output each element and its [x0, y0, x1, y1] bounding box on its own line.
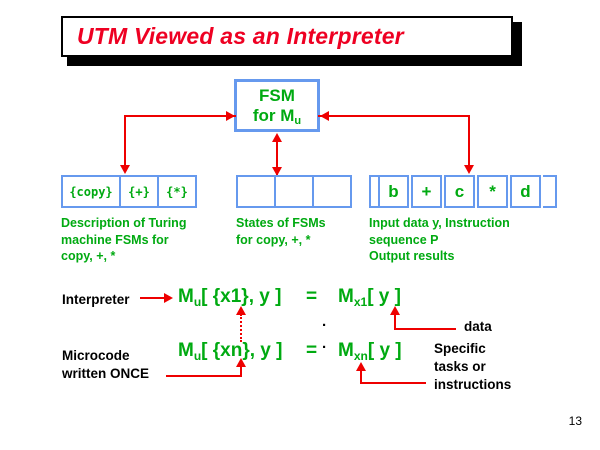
- interpreter-arrow-line: [140, 297, 166, 299]
- microcode-label-line2: written ONCE: [62, 366, 149, 381]
- tape-description: {copy} {+} {*}: [61, 175, 197, 208]
- specific-tasks-line3: instructions: [434, 377, 511, 392]
- equation-row2-rhs-prefix: M: [338, 340, 354, 361]
- data-callout-line: [394, 328, 456, 330]
- page-number: 13: [569, 414, 582, 428]
- connector-right-arrowhead-icon: [464, 165, 474, 174]
- tape-states: [236, 175, 352, 208]
- microcode-callout-arrowhead-icon: [236, 358, 246, 367]
- equation-link-arrowhead-icon: [236, 306, 246, 315]
- tape-data: b + c * d: [378, 175, 543, 208]
- equation-link-dotted-line: [240, 314, 242, 342]
- specific-tasks-line2: tasks or: [434, 359, 486, 374]
- interpreter-label: Interpreter: [62, 291, 130, 309]
- data-callout-vertical: [394, 314, 396, 330]
- equation-row2-lhs-subscript: u: [194, 349, 201, 363]
- connector-left-into-fsm-arrowhead-icon: [226, 111, 235, 121]
- data-label: data: [464, 318, 492, 336]
- tape-cell: {*}: [157, 175, 197, 208]
- connector-right-vertical: [468, 115, 470, 167]
- connector-left-vertical: [124, 115, 126, 167]
- fsm-label-line2-text: for M: [253, 106, 295, 125]
- tape-cell: *: [477, 175, 508, 208]
- equation-row1-lhs-rest: [ {x1}, y ]: [201, 286, 281, 307]
- microcode-label: Microcode written ONCE: [62, 347, 149, 383]
- equation-row2-equals: =: [306, 340, 317, 362]
- specific-tasks-line1: Specific: [434, 341, 486, 356]
- tape-cell: [312, 175, 352, 208]
- data-callout-arrowhead-icon: [390, 306, 400, 315]
- tape-cell: b: [378, 175, 409, 208]
- equation-row2-lhs-prefix: M: [178, 340, 194, 361]
- tape-data-right-bracket: [543, 175, 557, 208]
- interpreter-arrowhead-icon: [164, 293, 173, 303]
- tape-cell: d: [510, 175, 541, 208]
- tape-cell: c: [444, 175, 475, 208]
- connector-middle-arrowhead-up-icon: [272, 133, 282, 142]
- specific-callout-vertical: [360, 370, 362, 384]
- equation-row1-lhs-subscript: u: [194, 295, 201, 309]
- tape-description-caption: Description of Turing machine FSMs for c…: [61, 215, 231, 265]
- tape-cell: +: [411, 175, 442, 208]
- equation-row1-rhs: Mx1[ y ]: [338, 286, 401, 308]
- ellipsis-dot: .: [322, 336, 326, 351]
- specific-tasks-label: Specific tasks or instructions: [434, 340, 511, 395]
- equation-row1-lhs-prefix: M: [178, 286, 194, 307]
- tape-cell: [236, 175, 276, 208]
- specific-callout-arrowhead-icon: [356, 362, 366, 371]
- tape-cell: {+}: [119, 175, 159, 208]
- fsm-label-line2: for Mu: [253, 106, 301, 125]
- equation-row1-rhs-prefix: M: [338, 286, 354, 307]
- equation-row2-lhs: Mu[ {xn}, y ]: [178, 340, 282, 362]
- equation-row1-rhs-rest: [ y ]: [367, 286, 401, 307]
- equation-row1-equals: =: [306, 286, 317, 308]
- microcode-callout-line: [166, 375, 240, 377]
- fsm-label-line1: FSM: [259, 86, 295, 105]
- connector-right-into-fsm-arrowhead-icon: [320, 111, 329, 121]
- fsm-box: FSM for Mu: [234, 79, 320, 132]
- tape-cell: {copy}: [61, 175, 121, 208]
- connector-left-horizontal: [124, 115, 236, 117]
- page-title: UTM Viewed as an Interpreter: [63, 23, 404, 50]
- equation-row2-rhs-rest: [ y ]: [368, 340, 402, 361]
- equation-row1-rhs-subscript: x1: [354, 295, 367, 309]
- equation-row1-lhs: Mu[ {x1}, y ]: [178, 286, 281, 308]
- title-box: UTM Viewed as an Interpreter: [61, 16, 513, 57]
- fsm-label-line2-subscript: u: [294, 115, 301, 127]
- equation-row2-rhs: Mxn[ y ]: [338, 340, 402, 362]
- microcode-label-line1: Microcode: [62, 348, 130, 363]
- tape-cell: [274, 175, 314, 208]
- tape-states-caption: States of FSMs for copy, +, *: [236, 215, 376, 248]
- connector-left-arrowhead-icon: [120, 165, 130, 174]
- tape-data-caption: Input data y, Instruction sequence P Out…: [369, 215, 554, 265]
- connector-right-horizontal: [318, 115, 470, 117]
- specific-callout-line: [360, 382, 426, 384]
- ellipsis-dot: .: [322, 314, 326, 329]
- equation-row2-rhs-subscript: xn: [354, 349, 368, 363]
- microcode-callout-vertical: [240, 366, 242, 377]
